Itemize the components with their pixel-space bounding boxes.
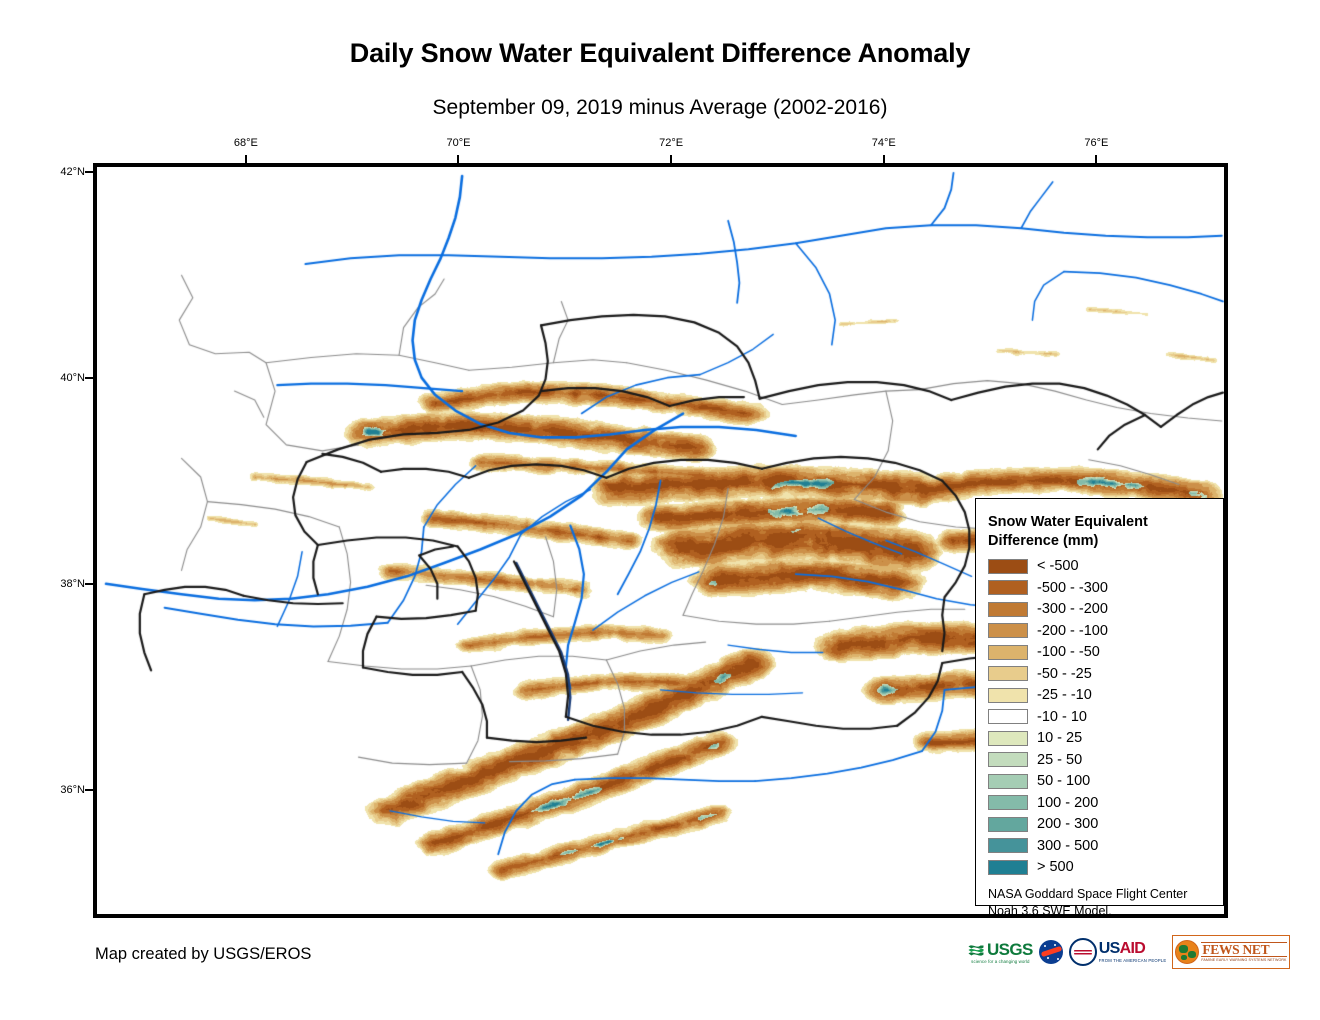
legend-source: NASA Goddard Space Flight Center Noah 3.… [988, 886, 1213, 920]
legend-swatch [988, 731, 1028, 746]
fews-logo-text: FEWS NET [1201, 942, 1286, 958]
legend-entry: -25 - -10 [988, 685, 1213, 707]
usgs-logo-text: USGS [987, 941, 1033, 958]
legend-entry-label: -50 - -25 [1037, 666, 1092, 682]
lat-tick [85, 789, 93, 791]
map-legend: Snow Water Equivalent Difference (mm) < … [975, 498, 1224, 906]
legend-entry: 50 - 100 [988, 771, 1213, 793]
page-subtitle: September 09, 2019 minus Average (2002-2… [0, 96, 1320, 120]
legend-entry: -500 - -300 [988, 577, 1213, 599]
lat-tick [85, 171, 93, 173]
legend-swatch [988, 774, 1028, 789]
lat-tick-label: 42°N [41, 166, 85, 178]
legend-entry-label: < -500 [1037, 558, 1079, 574]
legend-entry-label: 25 - 50 [1037, 752, 1082, 768]
legend-swatch [988, 666, 1028, 681]
legend-swatch [988, 688, 1028, 703]
lon-tick [245, 155, 247, 163]
legend-swatch [988, 817, 1028, 832]
legend-entry: 25 - 50 [988, 749, 1213, 771]
nasa-logo [1039, 937, 1063, 967]
fews-logo-tagline: FAMINE EARLY WARNING SYSTEMS NETWORK [1201, 958, 1286, 962]
legend-swatch [988, 795, 1028, 810]
lon-tick [1095, 155, 1097, 163]
usaid-logo-tagline: FROM THE AMERICAN PEOPLE [1099, 958, 1167, 963]
legend-entry: -200 - -100 [988, 620, 1213, 642]
legend-source-line1: NASA Goddard Space Flight Center [988, 886, 1213, 903]
lon-tick-label: 76°E [1084, 137, 1108, 149]
legend-entry-label: 100 - 200 [1037, 795, 1098, 811]
legend-entry-label: > 500 [1037, 859, 1074, 875]
lon-tick [670, 155, 672, 163]
lon-tick [457, 155, 459, 163]
legend-entry-label: -200 - -100 [1037, 623, 1108, 639]
legend-entry: -300 - -200 [988, 599, 1213, 621]
lon-tick [883, 155, 885, 163]
legend-entry: 300 - 500 [988, 835, 1213, 857]
legend-entry-label: 50 - 100 [1037, 773, 1090, 789]
legend-swatch [988, 623, 1028, 638]
legend-title-line2: Difference (mm) [988, 532, 1213, 551]
legend-entry: -50 - -25 [988, 663, 1213, 685]
usaid-logo: USAID FROM THE AMERICAN PEOPLE [1069, 937, 1167, 967]
legend-entry-label: -25 - -10 [1037, 687, 1092, 703]
legend-entry: < -500 [988, 556, 1213, 578]
legend-entry: -100 - -50 [988, 642, 1213, 664]
legend-entry: 10 - 25 [988, 728, 1213, 750]
lat-tick [85, 583, 93, 585]
legend-entry-label: 10 - 25 [1037, 730, 1082, 746]
legend-entry-label: -300 - -200 [1037, 601, 1108, 617]
logo-bar: USGS science for a changing world USAID … [968, 936, 1290, 968]
nasa-meatball-icon [1039, 940, 1063, 964]
legend-entry-label: 300 - 500 [1037, 838, 1098, 854]
legend-entry: > 500 [988, 857, 1213, 879]
lat-tick [85, 377, 93, 379]
usaid-seal-icon [1069, 938, 1097, 966]
legend-entry: 100 - 200 [988, 792, 1213, 814]
lat-tick-label: 36°N [41, 784, 85, 796]
legend-entry-label: -100 - -50 [1037, 644, 1100, 660]
fews-net-logo: FEWS NET FAMINE EARLY WARNING SYSTEMS NE… [1172, 935, 1289, 969]
legend-title: Snow Water Equivalent Difference (mm) [988, 513, 1213, 551]
legend-entry: -10 - 10 [988, 706, 1213, 728]
legend-swatch [988, 860, 1028, 875]
legend-swatch [988, 602, 1028, 617]
lon-tick-label: 72°E [659, 137, 683, 149]
lon-tick-label: 74°E [872, 137, 896, 149]
legend-swatch [988, 645, 1028, 660]
fews-globe-icon [1175, 940, 1199, 964]
legend-swatch [988, 838, 1028, 853]
usgs-logo: USGS science for a changing world [968, 937, 1033, 967]
usgs-logo-tagline: science for a changing world [971, 959, 1029, 964]
lon-tick-label: 70°E [446, 137, 470, 149]
lat-tick-label: 40°N [41, 372, 85, 384]
page-title: Daily Snow Water Equivalent Difference A… [0, 38, 1320, 69]
legend-entry: 200 - 300 [988, 814, 1213, 836]
legend-swatch [988, 559, 1028, 574]
legend-entries: < -500-500 - -300-300 - -200-200 - -100-… [988, 556, 1213, 879]
lon-tick-label: 68°E [234, 137, 258, 149]
lat-tick-label: 38°N [41, 578, 85, 590]
legend-swatch [988, 709, 1028, 724]
legend-title-line1: Snow Water Equivalent [988, 513, 1213, 532]
usgs-wave-icon [968, 942, 985, 957]
legend-swatch [988, 580, 1028, 595]
legend-source-line2: Noah 3.6 SWE Model. [988, 903, 1213, 920]
legend-swatch [988, 752, 1028, 767]
legend-entry-label: -500 - -300 [1037, 580, 1108, 596]
usaid-logo-text: USAID [1099, 941, 1167, 957]
legend-entry-label: 200 - 300 [1037, 816, 1098, 832]
map-credit: Map created by USGS/EROS [95, 945, 311, 964]
legend-entry-label: -10 - 10 [1037, 709, 1087, 725]
